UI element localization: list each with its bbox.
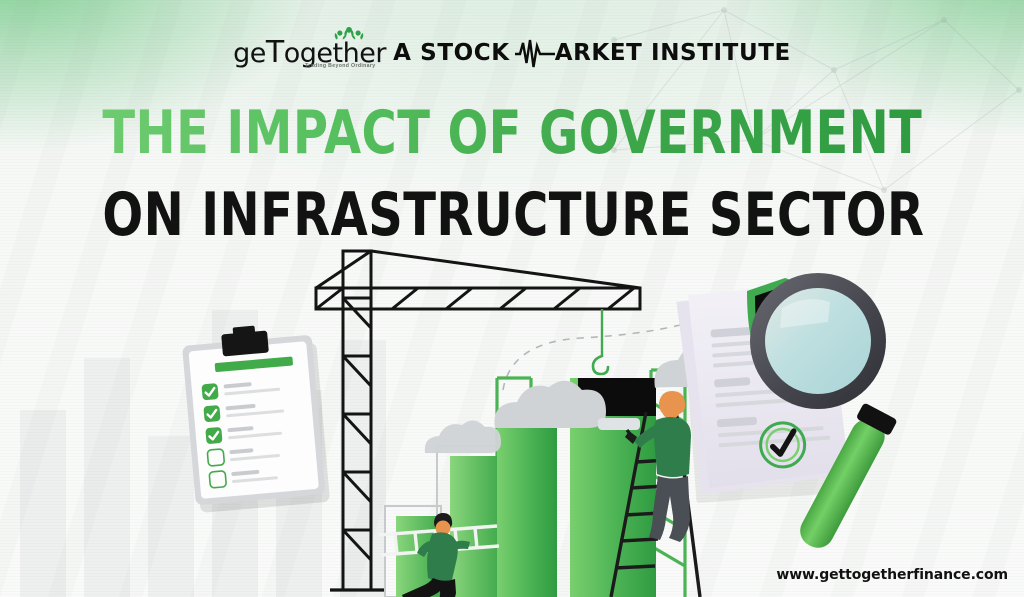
bar-3 bbox=[497, 416, 557, 597]
institute-title: A STOCK ARKET INSTITUTE bbox=[393, 38, 791, 68]
gettogether-logo[interactable]: geTogether Trading Beyond Ordinary bbox=[233, 30, 383, 76]
checklist-clipboard bbox=[181, 320, 330, 513]
institute-title-pre: A STOCK bbox=[393, 40, 510, 66]
institute-title-post: ARKET INSTITUTE bbox=[555, 40, 791, 66]
leaf-people-icon bbox=[329, 25, 369, 49]
website-url: www.gettogetherfinance.com bbox=[776, 567, 1008, 583]
stock-pulse-m-icon bbox=[514, 38, 556, 68]
paint-roller bbox=[598, 418, 640, 430]
brand-header: geTogether Trading Beyond Ordinary A STO… bbox=[0, 30, 1024, 76]
logo-tagline: Trading Beyond Ordinary bbox=[305, 63, 375, 69]
poster-canvas: geTogether Trading Beyond Ordinary A STO… bbox=[0, 0, 1024, 597]
infrastructure-illustration bbox=[0, 238, 1024, 597]
logo-text-part1: ge bbox=[233, 38, 266, 69]
page-title-line1: THE IMPACT OF GOVERNMENT POLICIES bbox=[102, 98, 921, 168]
logo-text-cap: T bbox=[266, 35, 284, 70]
approved-check-stamp bbox=[759, 421, 806, 468]
